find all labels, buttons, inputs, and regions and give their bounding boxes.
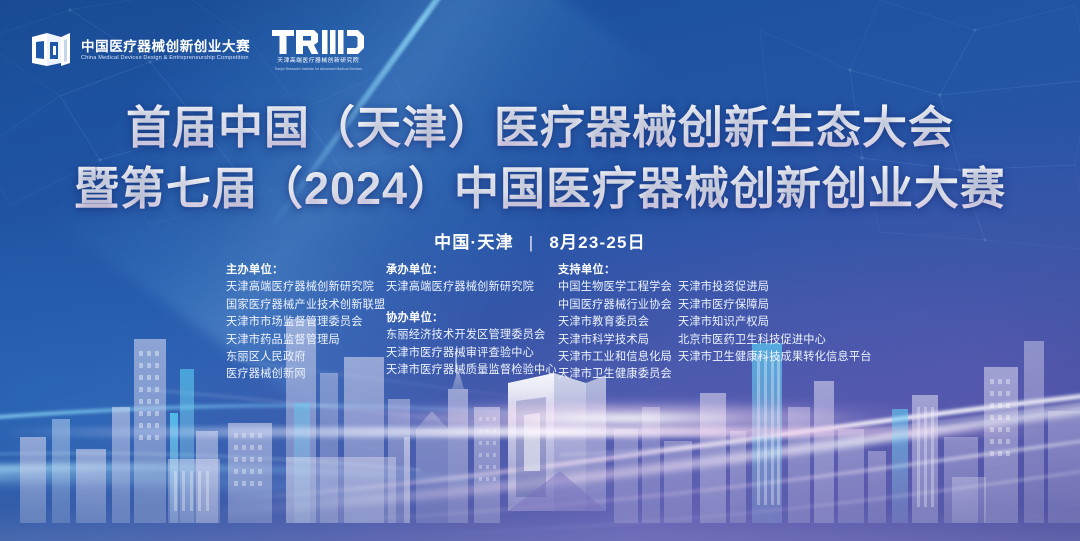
institute-logo[interactable]: 天津高端医疗器械创新研究院 Tianjin Research Institute… xyxy=(272,28,364,71)
organizer-item: 天津市药品监督管理局 xyxy=(226,332,386,349)
organizer-column-3: 支持单位： 中国生物医学工程学会 中国医疗器械行业协会 天津市教育委员会 天津市… xyxy=(558,262,678,384)
organizer-item: 天津市教育委员会 xyxy=(558,314,678,331)
organizer-heading: 支持单位： xyxy=(558,262,678,279)
institute-title-en: Tianjin Research Institute for Advanced … xyxy=(274,68,362,71)
meta-separator: | xyxy=(529,233,535,253)
organizer-column-1: 主办单位： 天津高端医疗器械创新研究院 国家医疗器械产业技术创新联盟 天津市市场… xyxy=(226,262,386,384)
organizer-item: 北京市医药卫生科技促进中心 xyxy=(678,332,872,349)
organizer-item: 中国生物医学工程学会 xyxy=(558,279,678,296)
organizer-item: 天津市科学技术局 xyxy=(558,332,678,349)
central-logo-monument xyxy=(508,373,606,511)
page-title: 首届中国（天津）医疗器械创新生态大会 暨第七届（2024）中国医疗器械创新创业大… xyxy=(0,97,1080,219)
organizers-block: 主办单位： 天津高端医疗器械创新研究院 国家医疗器械产业技术创新联盟 天津市市场… xyxy=(226,262,872,384)
organizer-heading: 协办单位： xyxy=(386,310,558,327)
organizer-heading: 主办单位： xyxy=(226,262,386,279)
organizer-item: 天津市投资促进局 xyxy=(678,279,872,296)
organizer-item: 天津高端医疗器械创新研究院 xyxy=(226,279,386,296)
organizer-group: 主办单位： 天津高端医疗器械创新研究院 国家医疗器械产业技术创新联盟 天津市市场… xyxy=(226,262,386,384)
conference-poster: 中国医疗器械创新创业大赛 China Medical Devices Desig… xyxy=(0,0,1080,541)
organizer-heading: 承办单位： xyxy=(386,262,558,279)
institute-title-cn: 天津高端医疗器械创新研究院 xyxy=(277,59,359,65)
competition-logo[interactable]: 中国医疗器械创新创业大赛 China Medical Devices Desig… xyxy=(30,30,250,70)
organizer-item: 天津高端医疗器械创新研究院 xyxy=(386,279,558,296)
organizer-item: 天津市市场监督管理委员会 xyxy=(226,314,386,331)
event-date: 8月23-25日 xyxy=(549,233,646,252)
organizer-item: 天津市医疗器械审评查验中心 xyxy=(386,345,558,362)
horizon-glow xyxy=(0,381,1080,455)
organizer-item: 天津市知识产权局 xyxy=(678,314,872,331)
competition-title-cn: 中国医疗器械创新创业大赛 xyxy=(81,40,250,54)
organizer-item: 天津市工业和信息化局 xyxy=(558,349,678,366)
organizer-item: 国家医疗器械产业技术创新联盟 xyxy=(226,297,386,314)
organizer-item: 东丽区人民政府 xyxy=(226,349,386,366)
competition-title-en: China Medical Devices Design & Entrepren… xyxy=(81,55,250,61)
title-line-1: 首届中国（天津）医疗器械创新生态大会 xyxy=(0,97,1080,158)
event-location: 中国·天津 xyxy=(434,233,514,252)
organizer-group: 承办单位： 天津高端医疗器械创新研究院 xyxy=(386,262,558,297)
open-book-door-logo-icon xyxy=(30,30,72,70)
organizer-item: 医疗器械创新网 xyxy=(226,366,386,383)
organizer-group: 协办单位： 东丽经济技术开发区管理委员会 天津市医疗器械审评查验中心 天津市医疗… xyxy=(386,310,558,380)
organizer-column-2: 承办单位： 天津高端医疗器械创新研究院 协办单位： 东丽经济技术开发区管理委员会… xyxy=(386,262,558,379)
organizer-item: 天津市医疗保障局 xyxy=(678,297,872,314)
title-line-2: 暨第七届（2024）中国医疗器械创新创业大赛 xyxy=(0,158,1080,219)
organizer-group: 天津市投资促进局 天津市医疗保障局 天津市知识产权局 北京市医药卫生科技促进中心… xyxy=(678,262,872,366)
organizer-item: 天津市医疗器械质量监督检验中心 xyxy=(386,362,558,379)
organizer-item: 东丽经济技术开发区管理委员会 xyxy=(386,327,558,344)
event-meta: 中国·天津 | 8月23-25日 xyxy=(0,228,1080,253)
column-spacer xyxy=(678,262,872,279)
organizer-item: 天津市卫生健康科技成果转化信息平台 xyxy=(678,349,872,366)
competition-logo-text: 中国医疗器械创新创业大赛 China Medical Devices Desig… xyxy=(81,38,250,61)
horizon-line-glow xyxy=(0,427,1080,437)
header-logos: 中国医疗器械创新创业大赛 China Medical Devices Desig… xyxy=(30,28,364,71)
organizer-group: 支持单位： 中国生物医学工程学会 中国医疗器械行业协会 天津市教育委员会 天津市… xyxy=(558,262,678,384)
organizer-item: 中国医疗器械行业协会 xyxy=(558,297,678,314)
organizer-column-4: 天津市投资促进局 天津市医疗保障局 天津市知识产权局 北京市医药卫生科技促进中心… xyxy=(678,262,872,366)
triid-wordmark-icon xyxy=(272,28,364,56)
organizer-item: 天津市卫生健康委员会 xyxy=(558,366,678,383)
